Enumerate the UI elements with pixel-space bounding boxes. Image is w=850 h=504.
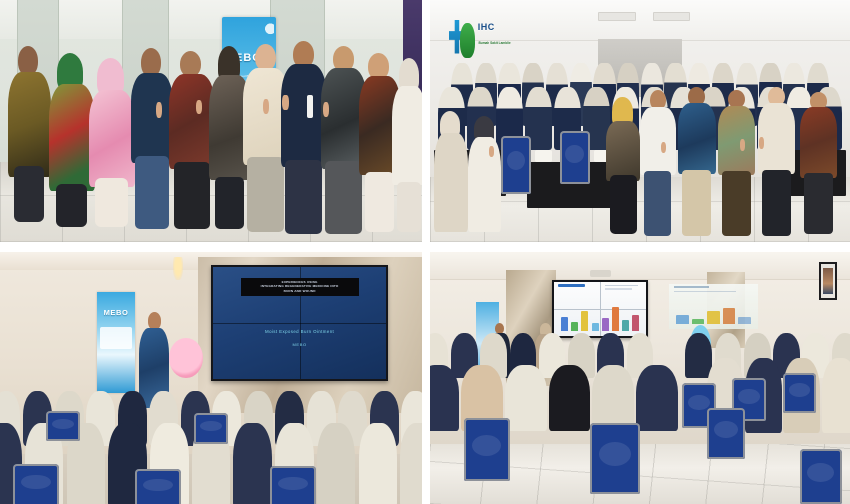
bar-chart — [561, 303, 639, 331]
ceiling-vent — [653, 12, 691, 20]
banner-swirl-icon — [256, 22, 275, 38]
ihc-subtitle: Bumah Sakit Lamblie — [478, 41, 516, 45]
slide-title-line-3: BURN AND WOUND — [244, 289, 356, 294]
person — [8, 46, 50, 220]
thumbs-up-gesture — [156, 102, 162, 118]
person — [131, 48, 173, 227]
chair — [135, 469, 181, 504]
chair — [783, 373, 817, 413]
projected-slide — [669, 284, 757, 329]
photo-collage: MEBO Moist Exposed Burn Ointment — [0, 0, 850, 504]
mascot-balloon — [169, 338, 203, 378]
chair — [46, 411, 80, 441]
person — [89, 58, 135, 225]
scene-large-group: IHC Bumah Sakit Lamblie — [430, 0, 850, 242]
chair — [194, 413, 228, 443]
wall-lamp — [173, 257, 183, 280]
person — [468, 116, 502, 232]
slide-title-box: EXPERIENCES USING INTEGRATING REGENERATI… — [241, 278, 359, 296]
ihc-leaf-icon — [460, 23, 475, 58]
id-badge — [307, 95, 313, 118]
person — [678, 87, 716, 235]
scene-seminar-presentation: EXPERIENCES USING INTEGRATING REGENERATI… — [0, 252, 422, 504]
thumbs-up-gesture — [740, 139, 745, 151]
mebo-rollup-banner: MEBO — [97, 292, 135, 393]
person — [640, 90, 676, 235]
gutter-vertical — [422, 0, 430, 504]
demo-device — [535, 150, 552, 162]
portrait-image — [823, 268, 833, 294]
banner-brand-label: MEBO — [101, 308, 131, 317]
slide-header-bar — [558, 284, 586, 287]
thumbs-up-gesture — [759, 137, 764, 149]
slide-header-bar — [674, 286, 709, 288]
person — [758, 87, 796, 235]
chair — [590, 423, 640, 494]
thumbs-up-gesture — [323, 102, 329, 117]
photo-top-right: IHC Bumah Sakit Lamblie — [430, 0, 850, 242]
slide-brand: MEBO — [227, 342, 373, 347]
chair — [800, 449, 842, 504]
person — [392, 58, 422, 230]
scene-group-photo: MEBO Moist Exposed Burn Ointment — [0, 0, 422, 242]
slide-text-line — [674, 291, 736, 292]
chair — [707, 408, 745, 458]
thumbs-up-gesture — [196, 100, 202, 114]
person — [606, 97, 640, 233]
wall-upper-band — [0, 0, 422, 39]
ceiling-vent — [598, 12, 636, 20]
presentation-screen — [552, 280, 649, 338]
banner-info-box — [100, 327, 132, 349]
slide-text-line — [605, 288, 633, 289]
chair — [560, 131, 589, 184]
scene-seminar-wide — [430, 252, 850, 504]
chair — [501, 136, 530, 194]
wall-framed-portrait — [819, 262, 837, 300]
person — [718, 90, 756, 235]
chair — [13, 464, 59, 504]
gutter-horizontal — [0, 242, 850, 252]
ihc-wordmark: IHC — [478, 22, 516, 32]
slide-text-line — [605, 285, 638, 286]
screen-divider-horizontal — [213, 323, 386, 324]
bar-chart — [676, 305, 750, 324]
ihc-wall-logo: IHC Bumah Sakit Lamblie — [449, 17, 516, 61]
slide-subtitle: Moist Exposed Burn Ointment — [227, 329, 373, 334]
person — [434, 111, 468, 232]
thumbs-up-gesture — [263, 99, 269, 114]
thumbs-up-gesture — [489, 146, 494, 156]
video-wall: EXPERIENCES USING INTEGRATING REGENERATI… — [211, 265, 388, 381]
ceiling — [430, 252, 850, 280]
person — [800, 92, 838, 232]
thumbs-up-gesture — [661, 142, 666, 154]
photo-bottom-right — [430, 252, 850, 504]
photo-top-left: MEBO Moist Exposed Burn Ointment — [0, 0, 422, 242]
thumbs-up-gesture — [282, 95, 288, 110]
chair — [464, 418, 510, 481]
photo-bottom-left: EXPERIENCES USING INTEGRATING REGENERATI… — [0, 252, 422, 504]
projector-mount — [590, 270, 611, 278]
chair — [270, 466, 316, 504]
